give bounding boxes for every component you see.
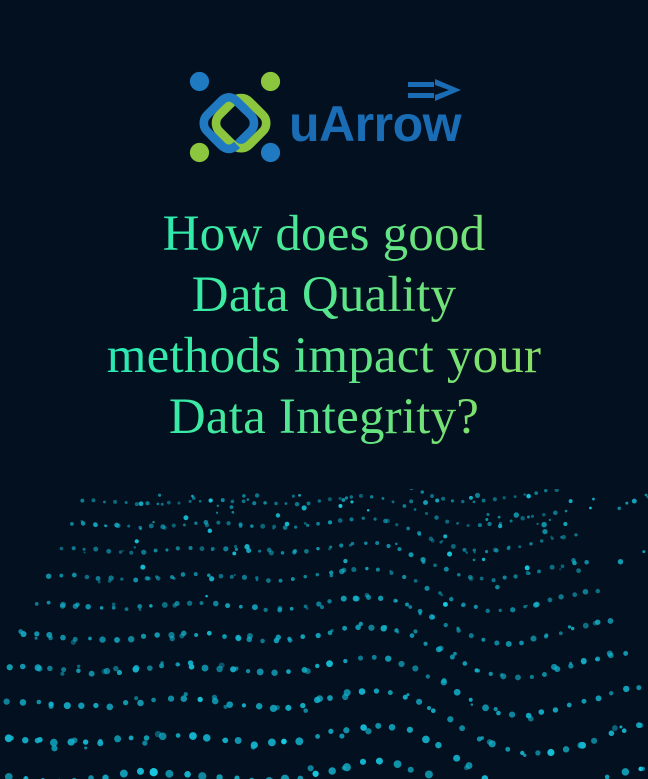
headline-line-3: methods impact your [0,326,648,387]
brand-header: uArrow [0,62,648,172]
headline-line-4: Data Integrity? [0,387,648,448]
page-title: How does good Data Quality methods impac… [0,204,648,448]
headline-line-1: How does good [0,204,648,265]
double-arrow-icon [407,77,463,107]
wordmark-group: uArrow [289,69,461,165]
uarrow-interlocking-squares-logo-icon [187,69,283,165]
poster-canvas: uArrow How does good Data Quality method… [0,0,648,779]
headline-line-2: Data Quality [0,265,648,326]
perspective-dot-wave-mesh-graphic [0,489,648,779]
